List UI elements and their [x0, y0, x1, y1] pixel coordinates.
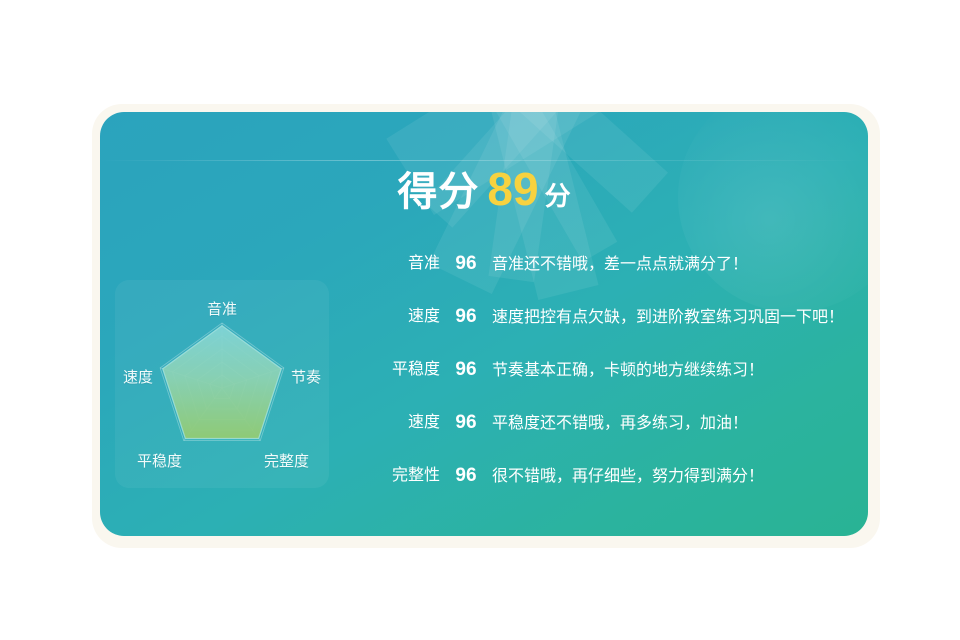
table-row: 完整性 96 很不错哦，再仔细些，努力得到满分！ [372, 464, 850, 489]
highlight-divider [100, 160, 868, 161]
radar-label-bottom-left: 平稳度 [137, 454, 182, 469]
radar-data-polygon [163, 326, 282, 439]
metric-name: 完整性 [372, 464, 440, 488]
radar-label-top: 音准 [207, 302, 237, 317]
radar-chart-panel: 音准 节奏 速度 平稳度 完整度 [115, 280, 329, 488]
table-row: 速度 96 平稳度还不错哦，再多练习，加油！ [372, 411, 850, 436]
metric-score: 96 [440, 305, 492, 329]
score-label: 得分 [397, 170, 479, 214]
metric-name: 速度 [372, 411, 440, 435]
metric-score: 96 [440, 411, 492, 435]
metric-name: 音准 [372, 252, 440, 276]
score-value: 89 [487, 163, 538, 215]
score-card: 得分89分 [100, 112, 868, 536]
radar-grid [160, 323, 284, 441]
radar-label-bottom-right: 完整度 [264, 454, 309, 469]
metric-name: 平稳度 [372, 358, 440, 382]
metric-comment: 很不错哦，再仔细些，努力得到满分！ [492, 464, 850, 489]
radar-label-left: 速度 [123, 370, 153, 385]
metric-score: 96 [440, 252, 492, 276]
metric-comment: 速度把控有点欠缺，到进阶教室练习巩固一下吧！ [492, 305, 850, 330]
score-detail-list: 音准 96 音准还不错哦，差一点点就满分了！ 速度 96 速度把控有点欠缺，到进… [372, 252, 850, 489]
table-row: 速度 96 速度把控有点欠缺，到进阶教室练习巩固一下吧！ [372, 305, 850, 330]
metric-comment: 平稳度还不错哦，再多练习，加油！ [492, 411, 850, 436]
metric-comment: 节奏基本正确，卡顿的地方继续练习！ [492, 358, 850, 383]
page-title: 得分89分 [100, 166, 868, 212]
table-row: 音准 96 音准还不错哦，差一点点就满分了！ [372, 252, 850, 277]
metric-name: 速度 [372, 305, 440, 329]
radar-label-right: 节奏 [291, 370, 321, 385]
metric-score: 96 [440, 358, 492, 382]
page-root: 得分89分 [0, 0, 960, 640]
score-unit: 分 [545, 181, 571, 211]
metric-score: 96 [440, 464, 492, 488]
table-row: 平稳度 96 节奏基本正确，卡顿的地方继续练习！ [372, 358, 850, 383]
metric-comment: 音准还不错哦，差一点点就满分了！ [492, 252, 850, 277]
